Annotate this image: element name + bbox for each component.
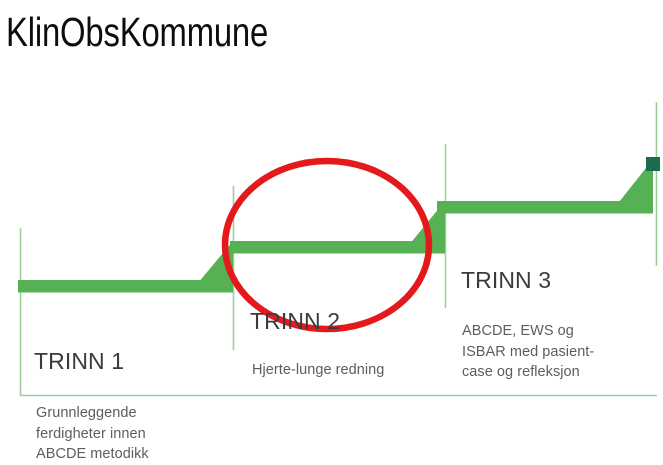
step-heading-trinn-1: TRINN 1 [34,348,124,374]
end-marker-square [646,157,660,171]
step-tread-2 [230,241,423,254]
staircase-diagram: TRINN 1 Grunnleggende ferdigheter innen … [0,100,663,412]
step-heading-trinn-3: TRINN 3 [461,267,551,293]
step-heading-trinn-2: TRINN 2 [250,308,340,334]
step-body-trinn-1: Grunnleggende ferdigheter innen ABCDE me… [36,403,149,465]
step-tread-3 [437,201,630,214]
page-title: KlinObsKommune [6,6,268,58]
step-body-trinn-2: Hjerte-lunge redning [252,360,384,381]
step-body-trinn-3: ABCDE, EWS og ISBAR med pasient- case og… [462,321,594,383]
step-tread-1 [18,280,211,293]
